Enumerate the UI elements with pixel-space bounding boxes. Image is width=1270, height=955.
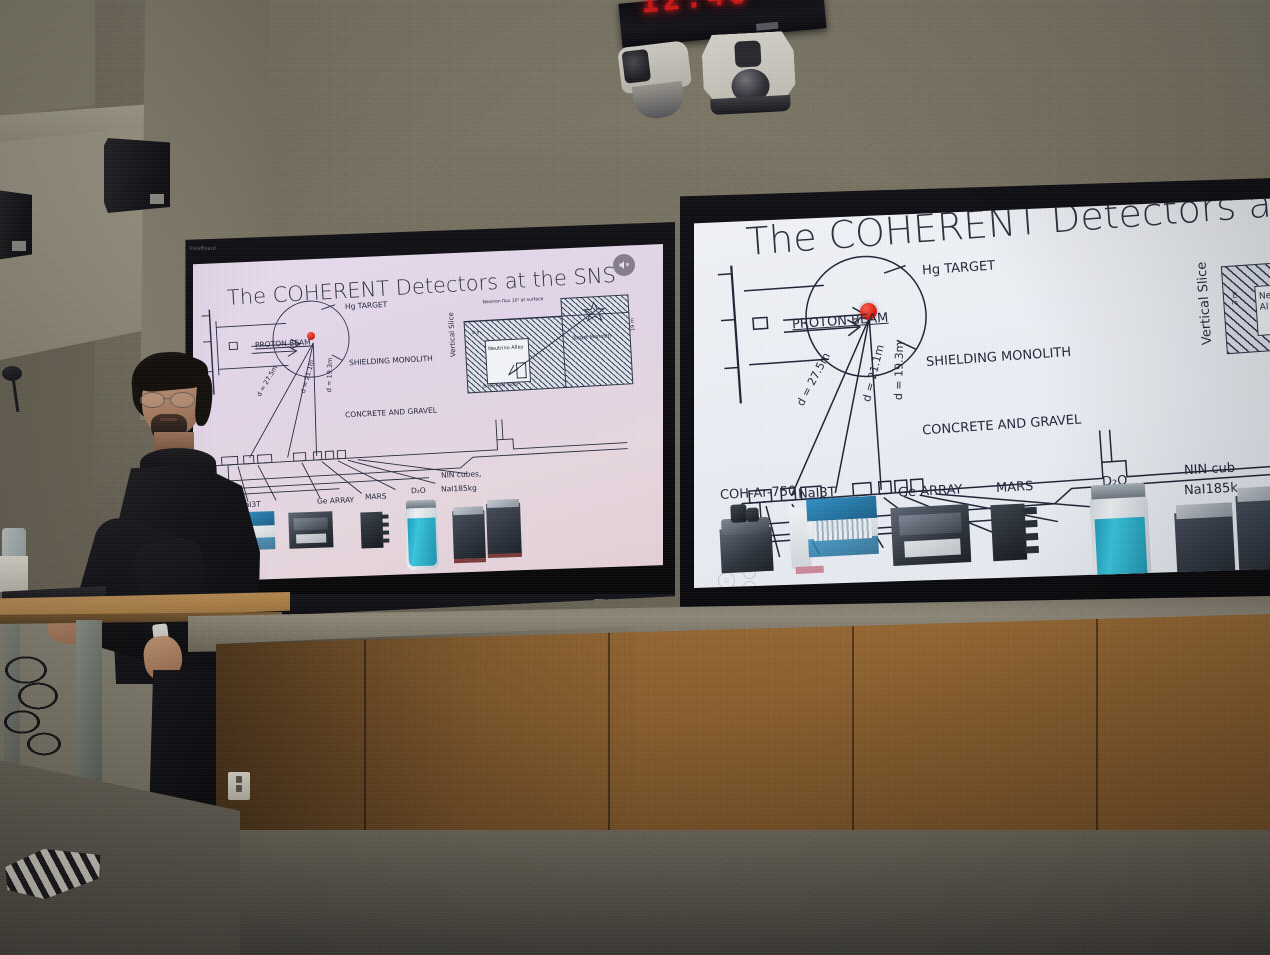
vertical-slice-inset: Vertical Slice Neutrino Alley Target Mon… (448, 292, 643, 398)
led-clock-digits: 12:40 (639, 0, 752, 21)
microphone-icon (2, 366, 36, 412)
paper-stack (0, 556, 28, 592)
label-neutrino-alley: Ne Al (1259, 291, 1270, 314)
right-display-screen[interactable]: The COHERENT Detectors at the (694, 198, 1270, 588)
detector-icon-nai3t (788, 496, 882, 577)
detector-label-2: Ge ARRAY (317, 495, 354, 505)
wall-speaker-icon (104, 138, 170, 213)
lecture-hall-photo: 12:40 ViewBoard The COHERENT Detectors a… (0, 0, 1270, 955)
detector-icon-coh-ar-750 (716, 502, 780, 575)
power-outlet-icon (228, 772, 250, 800)
detector-icon-ge-array (890, 504, 973, 572)
right-slide: The COHERENT Detectors at the (694, 198, 1270, 588)
detector-label-5: NIN cubes, (441, 469, 482, 479)
label-alley-depth: 3 m (1231, 291, 1240, 305)
distance-label-3: d = 19.3m (892, 342, 906, 401)
detector-label-3: MARS (996, 479, 1034, 496)
detector-label-3: MARS (365, 492, 387, 502)
detector-icon-d2o (404, 499, 440, 572)
led-clock-tab (756, 22, 779, 31)
detector-label-5: NIN cub (1184, 461, 1236, 479)
ptz-camera-icon (611, 35, 702, 122)
detector-icon-mars (990, 503, 1041, 567)
vertical-slice-inset: Vertical Slice Ne Al 3 m (1198, 252, 1270, 369)
cable-bundle (0, 648, 96, 768)
dome-camera-icon (701, 31, 797, 121)
detector-icon-nin-cubes (1173, 489, 1270, 588)
detector-icon-mars (360, 512, 389, 553)
left-display-bezel-logo: ViewBoard (189, 246, 216, 252)
more-icon[interactable]: ⋯ (743, 581, 756, 588)
wall-speaker-icon (0, 190, 32, 260)
detector-label-4: D₂O (411, 486, 426, 496)
detector-label-6: NaI185kg (441, 483, 477, 493)
detector-icon-nin-cubes (452, 501, 526, 563)
right-display[interactable]: HiView The COHERENT Detectors at the (680, 178, 1270, 638)
presenter-mouth (160, 418, 177, 421)
detector-icon-d2o (1087, 482, 1155, 588)
distance-label-3: d = 19.3m (325, 358, 334, 393)
eyeglasses-icon (140, 392, 202, 407)
